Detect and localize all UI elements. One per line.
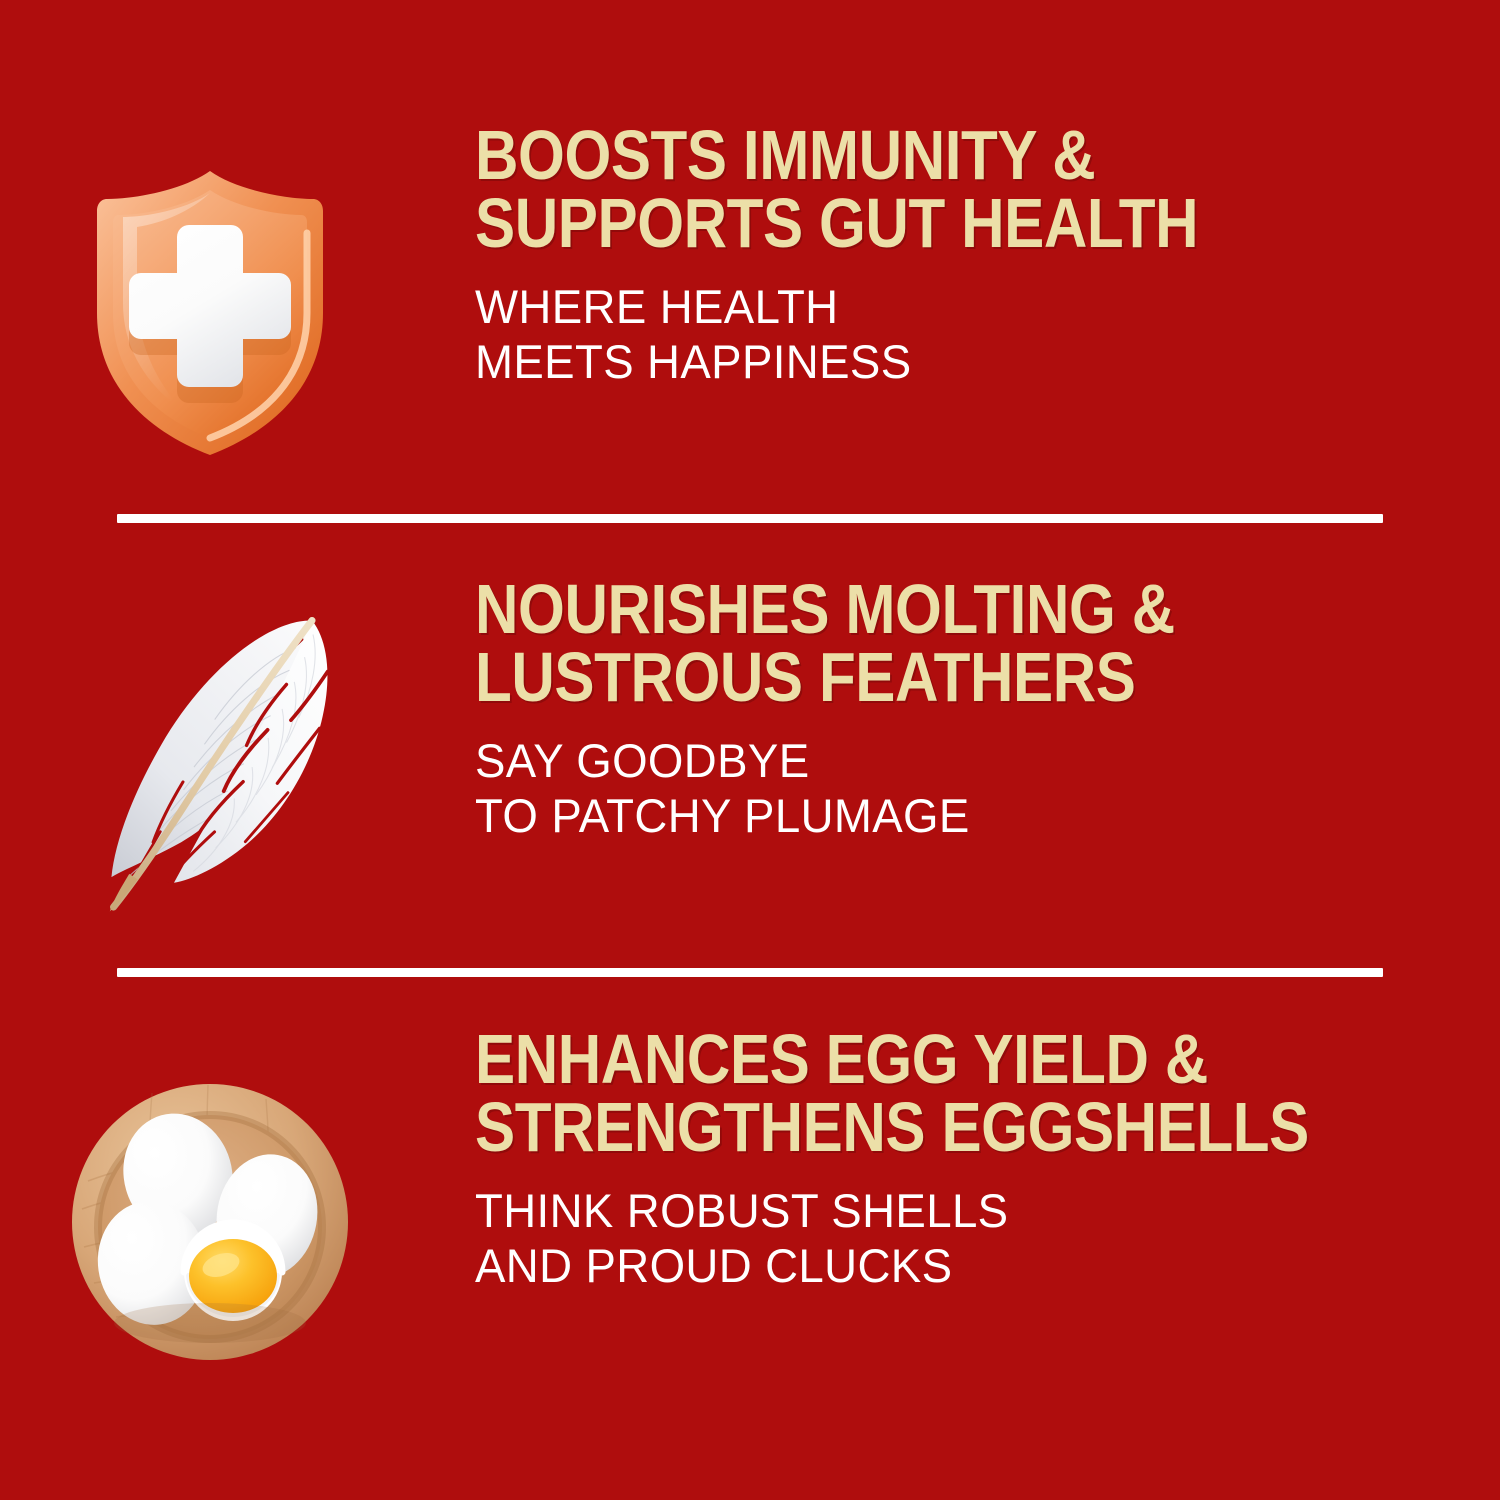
benefit-text-cell: ENHANCES EGG YIELD & STRENGTHENS EGGSHEL… bbox=[420, 1022, 1500, 1294]
section-divider bbox=[117, 968, 1383, 977]
benefit-row-eggs: ENHANCES EGG YIELD & STRENGTHENS EGGSHEL… bbox=[0, 1022, 1500, 1422]
benefit-headline: ENHANCES EGG YIELD & STRENGTHENS EGGSHEL… bbox=[475, 1026, 1357, 1162]
benefit-icon-cell bbox=[0, 572, 420, 962]
benefit-icon-cell bbox=[0, 1022, 420, 1422]
benefit-text-cell: BOOSTS IMMUNITY & SUPPORTS GUT HEALTH WH… bbox=[420, 118, 1500, 390]
benefit-text-cell: NOURISHES MOLTING & LUSTROUS FEATHERS SA… bbox=[420, 572, 1500, 844]
benefit-row-feathers: NOURISHES MOLTING & LUSTROUS FEATHERS SA… bbox=[0, 572, 1500, 962]
benefit-headline: BOOSTS IMMUNITY & SUPPORTS GUT HEALTH bbox=[475, 122, 1357, 258]
benefit-icon-cell bbox=[0, 118, 420, 508]
benefit-subtext: SAY GOODBYE TO PATCHY PLUMAGE bbox=[475, 734, 1469, 844]
benefits-infographic: BOOSTS IMMUNITY & SUPPORTS GUT HEALTH WH… bbox=[0, 0, 1500, 1500]
benefit-subtext: THINK ROBUST SHELLS AND PROUD CLUCKS bbox=[475, 1184, 1469, 1294]
section-divider bbox=[117, 514, 1383, 523]
feather-icon bbox=[60, 602, 360, 932]
benefit-row-immunity: BOOSTS IMMUNITY & SUPPORTS GUT HEALTH WH… bbox=[0, 118, 1500, 508]
benefit-headline: NOURISHES MOLTING & LUSTROUS FEATHERS bbox=[475, 576, 1357, 712]
shield-plus-icon bbox=[85, 163, 335, 463]
egg-bowl-icon bbox=[60, 1077, 360, 1367]
benefit-subtext: WHERE HEALTH MEETS HAPPINESS bbox=[475, 280, 1469, 390]
